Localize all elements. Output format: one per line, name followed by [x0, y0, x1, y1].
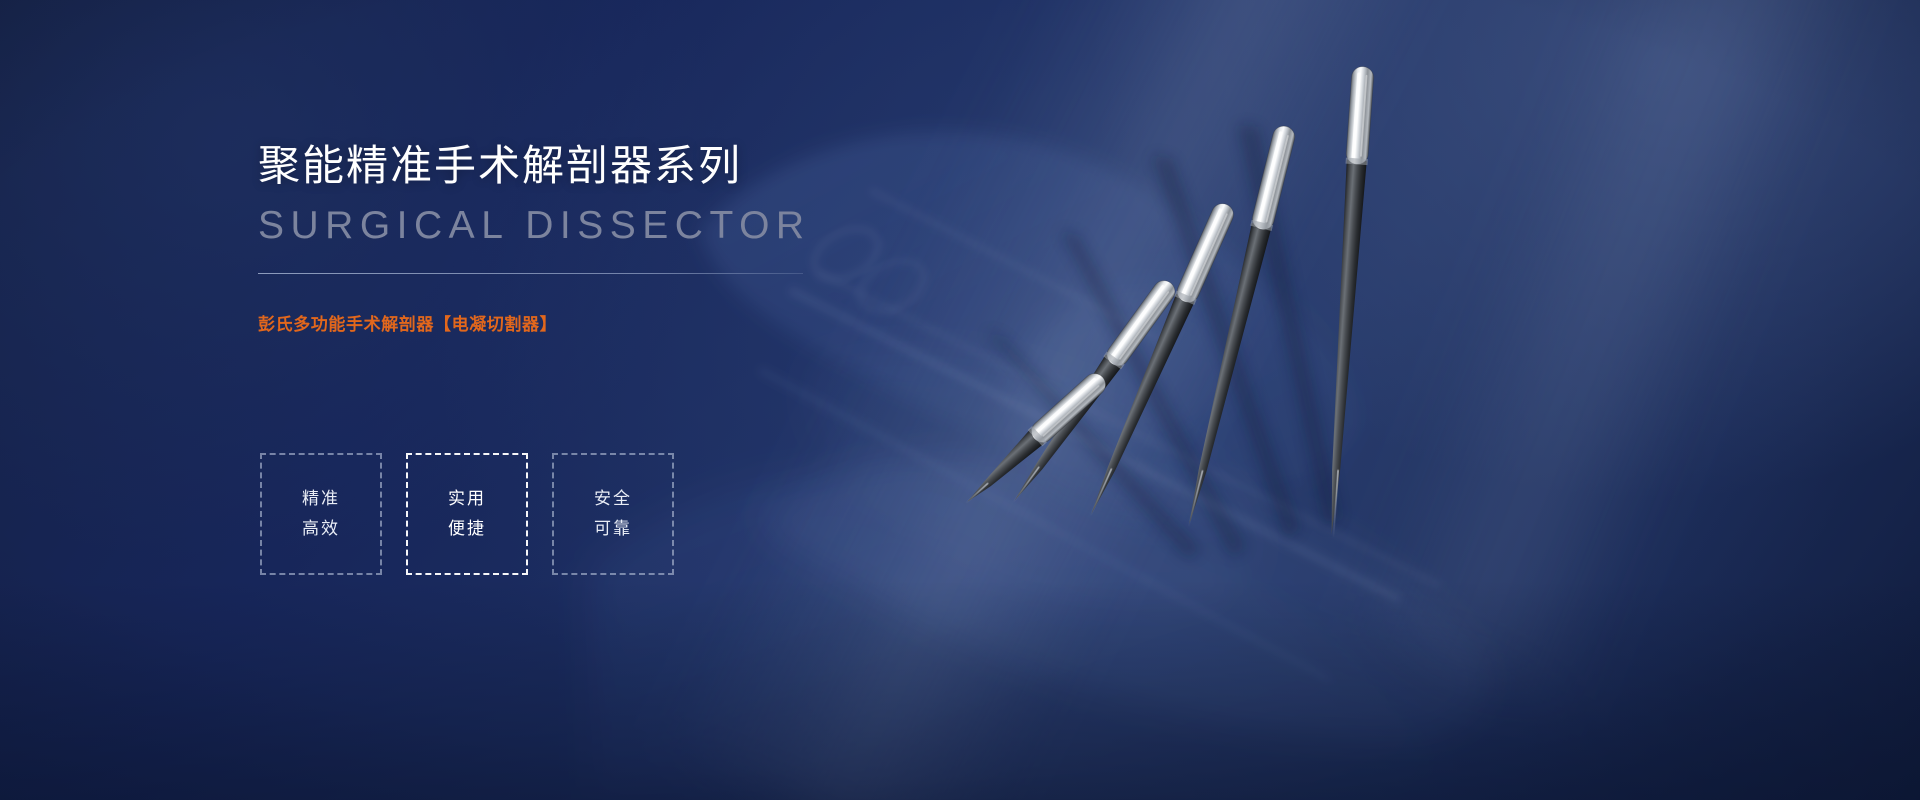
page-title: 聚能精准手术解剖器系列: [258, 140, 958, 193]
feature-line-1: 精准: [302, 489, 340, 509]
hero-banner: 聚能精准手术解剖器系列 SURGICAL DISSECTOR 彭氏多功能手术解剖…: [0, 0, 1920, 800]
divider-rule: [258, 273, 803, 274]
feature-line-1: 实用: [448, 489, 486, 509]
product-name-label: 彭氏多功能手术解剖器【电凝切割器】: [258, 310, 958, 335]
feature-box-safety[interactable]: 安全 可靠: [552, 453, 674, 575]
feature-box-group: 精准 高效 实用 便捷 安全 可靠: [260, 453, 674, 575]
feature-line-1: 安全: [594, 489, 632, 509]
feature-line-2: 高效: [302, 519, 340, 539]
feature-box-precision[interactable]: 精准 高效: [260, 453, 382, 575]
banner-copy: 聚能精准手术解剖器系列 SURGICAL DISSECTOR 彭氏多功能手术解剖…: [258, 140, 958, 335]
feature-line-2: 可靠: [594, 519, 632, 539]
page-subtitle-english: SURGICAL DISSECTOR: [258, 205, 958, 247]
feature-line-2: 便捷: [448, 519, 486, 539]
feature-box-practical[interactable]: 实用 便捷: [406, 453, 528, 575]
